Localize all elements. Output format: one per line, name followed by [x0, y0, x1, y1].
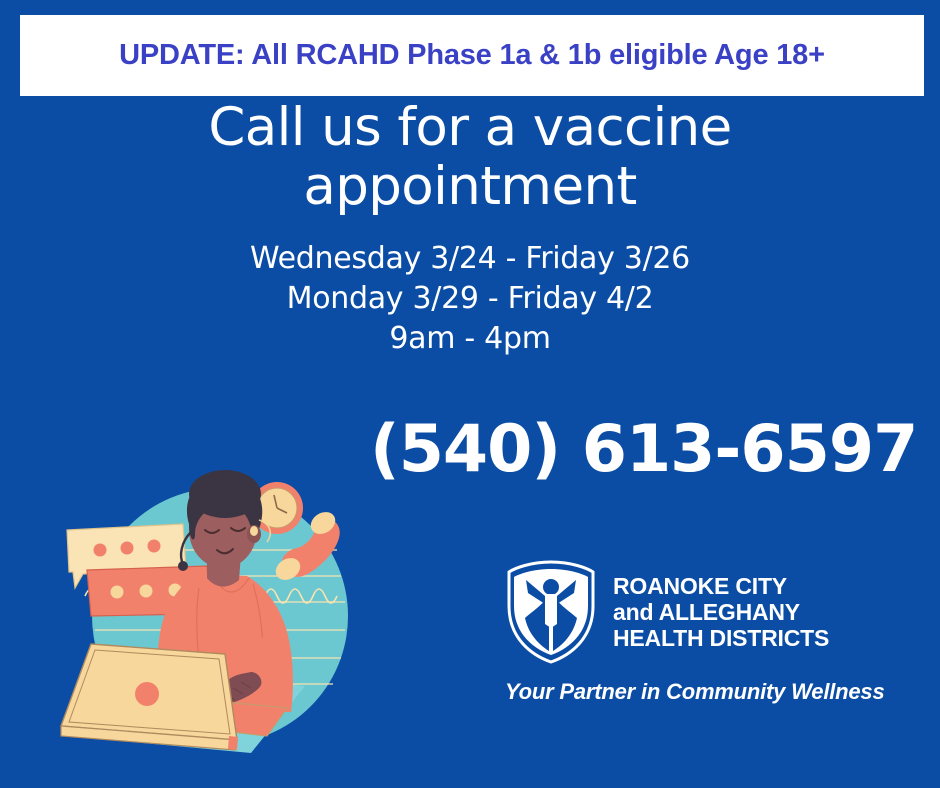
shield-person-logo-icon: [505, 560, 597, 664]
schedule-line-3: 9am - 4pm: [120, 319, 820, 359]
vaccine-appointment-poster: UPDATE: All RCAHD Phase 1a & 1b eligible…: [0, 0, 940, 788]
logo-row: ROANOKE CITY and ALLEGHANY HEALTH DISTRI…: [505, 560, 850, 664]
logo-line-3: HEALTH DISTRICTS: [613, 625, 829, 651]
phone-number: (540) 613-6597: [370, 412, 880, 487]
page-title: Call us for a vaccine appointment: [120, 98, 820, 216]
logo-tagline: Your Partner in Community Wellness: [505, 679, 850, 705]
schedule-line-1: Wednesday 3/24 - Friday 3/26: [120, 239, 820, 279]
update-banner-text: UPDATE: All RCAHD Phase 1a & 1b eligible…: [119, 39, 825, 72]
organization-logo: ROANOKE CITY and ALLEGHANY HEALTH DISTRI…: [505, 560, 850, 705]
update-banner: UPDATE: All RCAHD Phase 1a & 1b eligible…: [20, 15, 924, 96]
call-center-agent-illustration: [55, 468, 385, 768]
logo-line-1: ROANOKE CITY: [613, 573, 829, 599]
schedule-line-2: Monday 3/29 - Friday 4/2: [120, 279, 820, 319]
logo-text: ROANOKE CITY and ALLEGHANY HEALTH DISTRI…: [613, 573, 829, 651]
logo-line-2: and ALLEGHANY: [613, 599, 829, 625]
schedule-block: Wednesday 3/24 - Friday 3/26 Monday 3/29…: [120, 239, 820, 359]
